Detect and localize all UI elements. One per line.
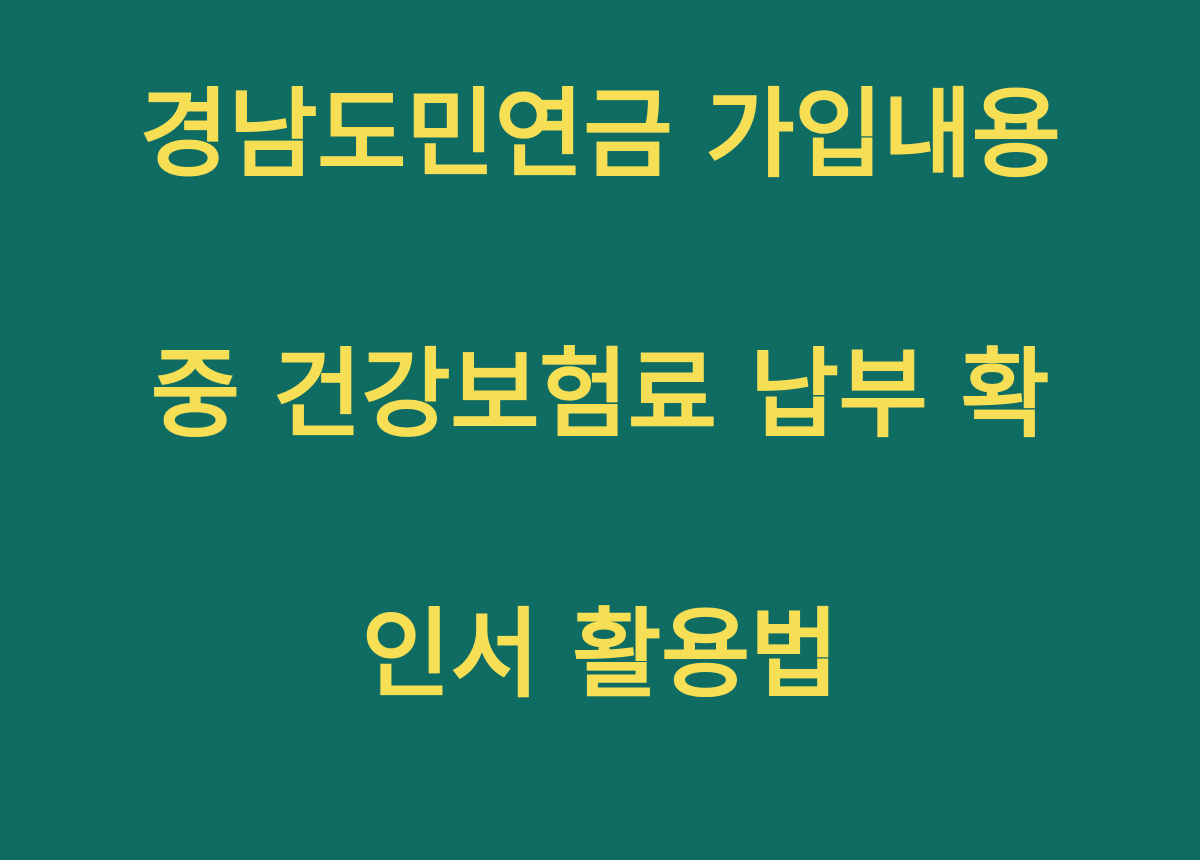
- thumbnail-card: 경남도민연금 가입내용 중 건강보험료 납부 확 인서 활용법: [0, 0, 1200, 800]
- page-title: 경남도민연금 가입내용 중 건강보험료 납부 확 인서 활용법: [70, 0, 1130, 850]
- headline-line-1: 경남도민연금 가입내용: [70, 70, 1130, 200]
- title-block: 경남도민연금 가입내용 중 건강보험료 납부 확 인서 활용법: [70, 0, 1130, 860]
- headline-line-2: 중 건강보험료 납부 확: [70, 330, 1130, 460]
- headline-line-3: 인서 활용법: [70, 590, 1130, 720]
